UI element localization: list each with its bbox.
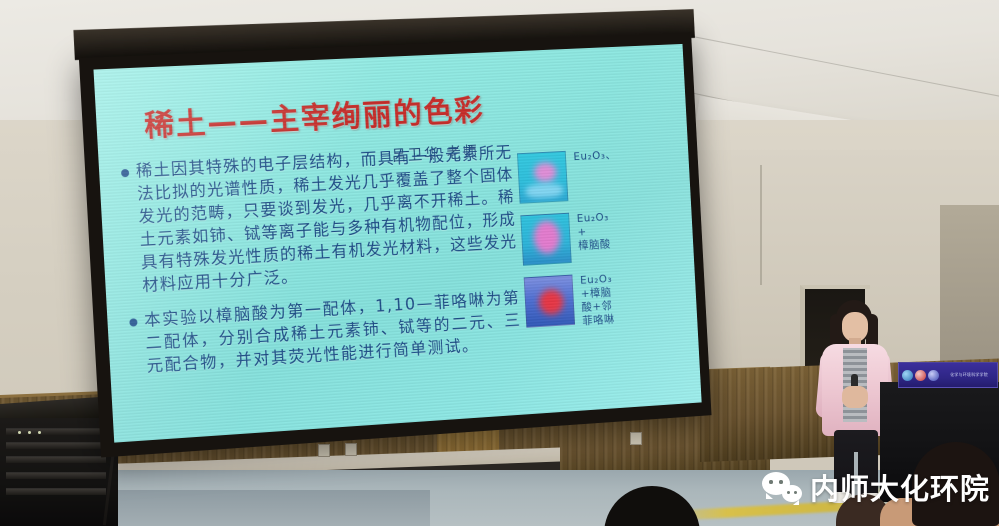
led-screen: 稀土——主宰绚丽的色彩 吕卫华 老师 稀土因其特殊的电子层结构，而具有一般元素所… [79, 32, 712, 458]
wall-outlet [630, 432, 642, 445]
presenter-leg-gap [854, 452, 858, 498]
rack-slot [6, 456, 106, 463]
podium-event-banner: 化学与环境科学学院 [898, 362, 998, 388]
rack-slot [6, 428, 106, 435]
slide-bullet-text: 本实验以樟脑酸为第一配体，1,10—菲咯啉为第二配体，分别合成稀土元素铈、铽等的… [144, 286, 523, 377]
banner-logo-icon [902, 370, 913, 381]
rack-slot [6, 488, 106, 495]
sample-photo-thumbnail [520, 213, 571, 266]
lecture-hall-photo: 稀土——主宰绚丽的色彩 吕卫华 老师 稀土因其特殊的电子层结构，而具有一般元素所… [0, 0, 999, 526]
banner-logo-icon [915, 370, 926, 381]
sample-caption: Eu₂O₃、 [566, 146, 672, 165]
sample-caption: Eu₂O₃ + 樟脑酸 [569, 207, 677, 253]
slide-bullet: 稀土因其特殊的电子层结构，而具有一般元素所无法比拟的光谱性质，稀土发光几乎覆盖了… [120, 141, 518, 298]
sample-photo-thumbnail [517, 151, 568, 204]
sample-item: Eu₂O₃、 [517, 146, 674, 204]
sample-photo-list: Eu₂O₃、 Eu₂O₃ + 樟脑酸 Eu₂O₃ +樟脑 酸+邻 菲咯啉 [517, 146, 681, 344]
rack-slot [6, 472, 106, 479]
bullet-dot-icon [129, 318, 137, 326]
wall-outlet [345, 443, 357, 456]
wall-panel-line [760, 165, 762, 285]
sample-glow [525, 183, 563, 199]
slide-title: 稀土——主宰绚丽的色彩 [143, 86, 485, 145]
bullet-dot-icon [121, 169, 129, 177]
sample-glow [533, 220, 561, 254]
sample-item: Eu₂O₃ +樟脑 酸+邻 菲咯啉 [524, 268, 681, 331]
sample-glow [538, 289, 564, 316]
rack-indicator-led [38, 431, 41, 434]
sample-photo-thumbnail [524, 275, 575, 328]
slide-body: 稀土因其特殊的电子层结构，而具有一般元素所无法比拟的光谱性质，稀土发光几乎覆盖了… [120, 141, 523, 390]
sample-item: Eu₂O₃ + 樟脑酸 [520, 207, 677, 266]
wall-side-strip [940, 205, 999, 365]
rack-indicator-led [18, 431, 21, 434]
banner-text-line-1: 化学与环境科学学院 [941, 372, 994, 378]
presenter-hands [842, 386, 868, 408]
audience-head [912, 442, 999, 526]
rack-slot [6, 442, 106, 449]
rack-indicator-led [28, 431, 31, 434]
sample-caption: Eu₂O₃ +樟脑 酸+邻 菲咯啉 [572, 268, 680, 328]
wall-outlet [318, 444, 330, 457]
slide-bullet-text: 稀土因其特殊的电子层结构，而具有一般元素所无法比拟的光谱性质，稀土发光几乎覆盖了… [135, 141, 519, 297]
screen-bezel: 稀土——主宰绚丽的色彩 吕卫华 老师 稀土因其特殊的电子层结构，而具有一般元素所… [79, 32, 712, 458]
sample-glow [533, 162, 557, 183]
banner-logo-icon [928, 370, 939, 381]
presentation-slide: 稀土——主宰绚丽的色彩 吕卫华 老师 稀土因其特殊的电子层结构，而具有一般元素所… [93, 44, 701, 443]
slide-bullet: 本实验以樟脑酸为第一配体，1,10—菲咯啉为第二配体，分别合成稀土元素铈、铽等的… [129, 286, 523, 378]
